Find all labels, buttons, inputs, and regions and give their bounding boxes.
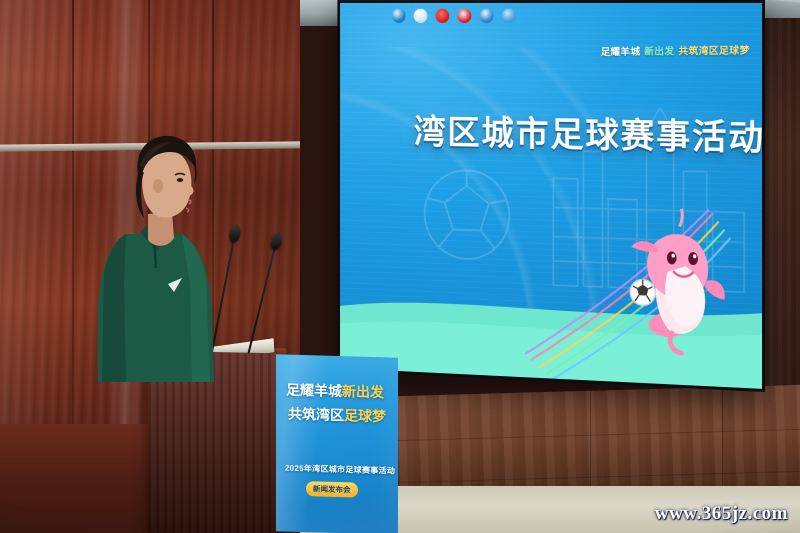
screen-main-title: 湾区城市足球赛事活动介绍 [414,116,762,158]
banner-line-1: 足耀羊城新出发 [286,383,390,401]
led-display-screen: 足耀羊城 新出发 共筑湾区足球梦 湾区城市足球赛事活动介绍 [337,0,765,392]
screen-corner-slogan: 足耀羊城 新出发 共筑湾区足球梦 [601,42,750,59]
speaker-person [96,122,236,382]
wall-seam [72,0,74,430]
sponsor-logo-5-icon [480,8,494,22]
banner-line-2-white: 共筑湾区 [288,406,344,424]
slogan-part-2: 新出发 [645,43,675,58]
sponsor-logo-2-icon [414,8,428,22]
banner-line-1-white: 足耀羊城 [286,382,342,400]
dolphin-mascot-icon [629,205,734,357]
watermark: www.365jz.com [655,503,788,525]
sponsor-logo-strip [392,5,567,27]
sponsor-logo-6-icon [502,8,516,23]
slogan-part-1: 足耀羊城 [601,43,641,58]
slogan-part-3: 共筑湾区足球梦 [679,42,750,58]
banner-line-2-color: 足球梦 [344,407,386,424]
banner-badge: 新闻发布会 [306,481,358,497]
led-screen-surface: 足耀羊城 新出发 共筑湾区足球梦 湾区城市足球赛事活动介绍 [340,3,762,389]
sponsor-logo-4-icon [458,8,472,22]
sponsor-logo-3-icon [436,8,450,22]
banner-line-2: 共筑湾区足球梦 [288,407,394,425]
sponsor-logo-1-icon [392,8,406,22]
podium-banner-panel: 足耀羊城新出发 共筑湾区足球梦 2025年湾区城市足球赛事活动 新闻发布会 [276,354,398,533]
banner-line-1-color: 新出发 [342,383,384,400]
photograph: 足耀羊城 新出发 共筑湾区足球梦 湾区城市足球赛事活动介绍 [0,0,800,533]
